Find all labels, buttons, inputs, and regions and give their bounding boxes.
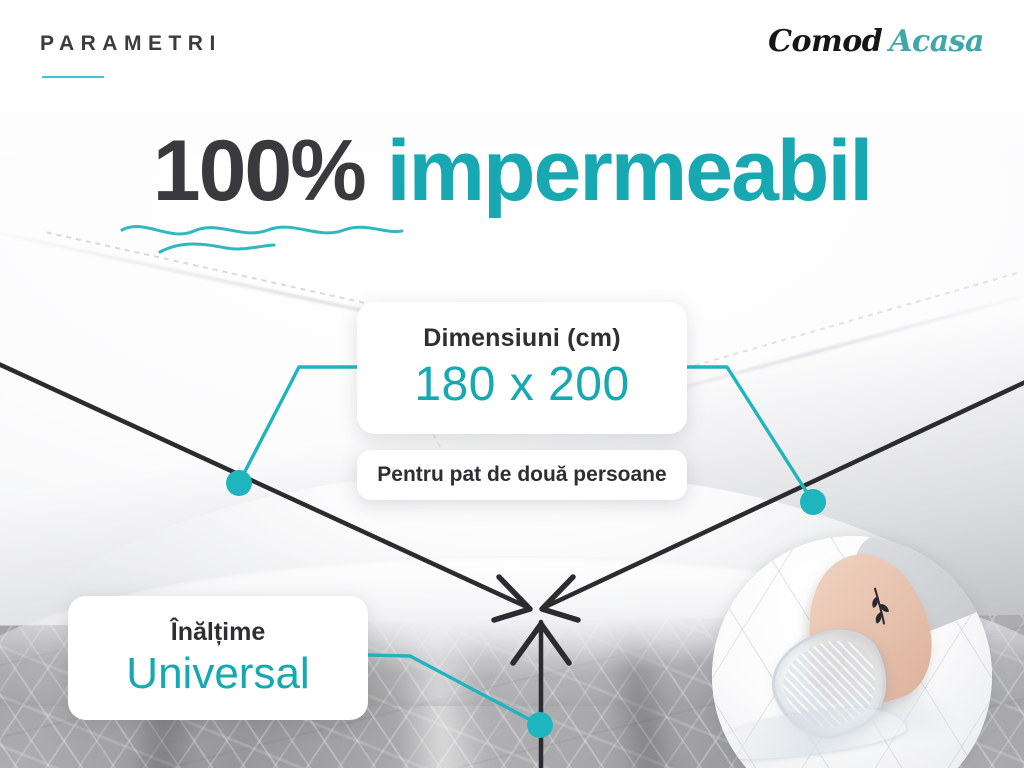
card-height[interactable]: Înălțime Universal <box>68 596 368 720</box>
card-height-value: Universal <box>126 649 309 699</box>
headline-highlight: impermeabil <box>387 123 872 219</box>
card-dimensions[interactable]: Dimensiuni (cm) 180 x 200 <box>357 302 687 434</box>
brand-logo-word2: Acasa <box>889 24 984 59</box>
connector-left <box>226 367 357 496</box>
card-height-title: Înălțime <box>171 618 265 647</box>
headline-prefix: 100% <box>153 123 365 219</box>
page-title: 100% impermeabil <box>0 128 1024 214</box>
connector-right <box>687 367 826 515</box>
connector-dot-left <box>226 470 252 496</box>
card-dimensions-title: Dimensiuni (cm) <box>423 324 620 353</box>
brand-logo-word1: Comod <box>768 24 882 59</box>
water-waves-icon <box>118 214 408 260</box>
infographic-canvas: PARAMETRI ComodAcasa 100% impermeabil Di… <box>0 0 1024 768</box>
water-spill-demo-photo <box>712 536 992 768</box>
connector-dot-right <box>800 489 826 515</box>
card-bed-type[interactable]: Pentru pat de două persoane <box>357 450 687 500</box>
connector-dot-bottom <box>527 712 553 738</box>
connector-bottom <box>368 655 553 738</box>
height-measure-arrow-icon <box>513 622 569 768</box>
kicker-underline <box>42 76 104 78</box>
card-dimensions-value: 180 x 200 <box>414 357 629 412</box>
brand-logo: ComodAcasa <box>768 24 984 59</box>
card-bed-type-label: Pentru pat de două persoane <box>377 463 666 487</box>
page-kicker: PARAMETRI <box>40 32 222 56</box>
